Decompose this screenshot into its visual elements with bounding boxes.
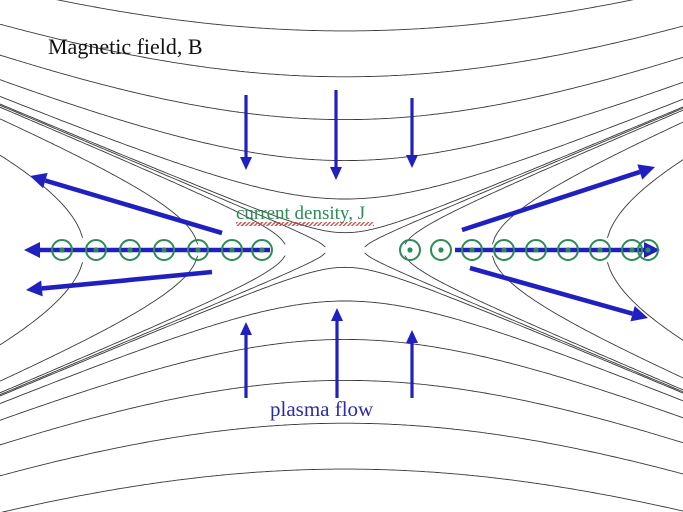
- magnetic-field-lines: [0, 0, 683, 512]
- magnetic-reconnection-svg: [0, 0, 683, 512]
- current-density-label: current density, J: [236, 204, 365, 223]
- plasma-flow-label: plasma flow: [270, 399, 373, 420]
- magnetic-field-label: Magnetic field, B: [48, 36, 203, 58]
- plasma-flow-arrows: [24, 90, 660, 398]
- diagram-canvas: Magnetic field, B current density, J pla…: [0, 0, 683, 512]
- spellcheck-underline: [236, 222, 374, 226]
